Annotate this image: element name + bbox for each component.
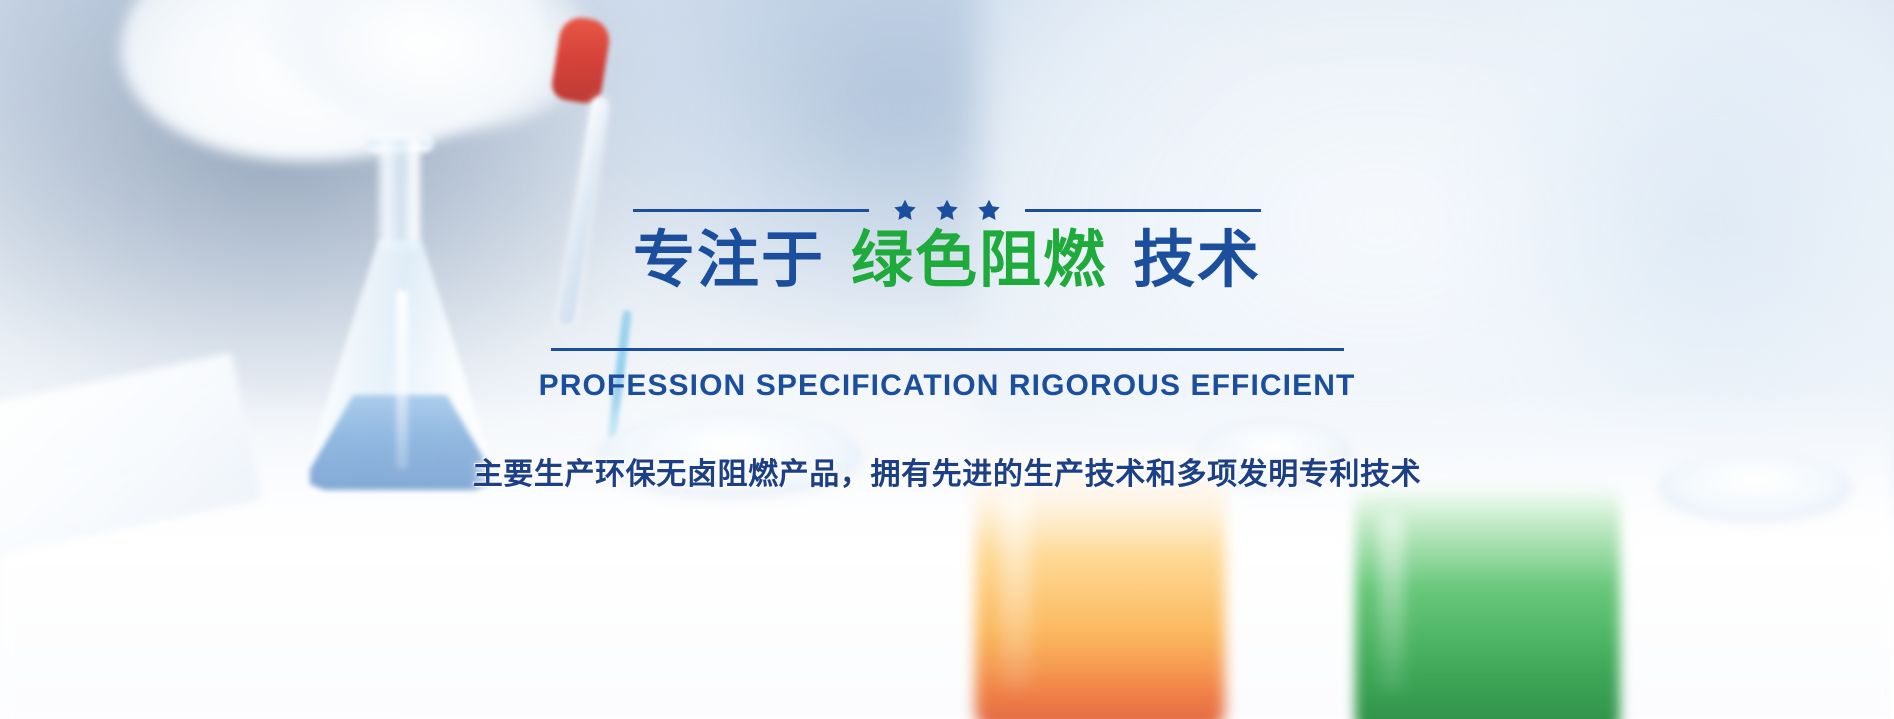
- decorative-rule-row: [633, 198, 1261, 222]
- hero-banner: 专注于绿色阻燃技术 PROFESSION SPECIFICATION RIGOR…: [0, 0, 1894, 719]
- tagline-chinese: 主要生产环保无卤阻燃产品，拥有先进的生产技术和多项发明专利技术: [473, 449, 1422, 493]
- divider-line-left: [633, 209, 869, 212]
- headline-part-2: 绿色阻燃: [851, 223, 1107, 296]
- page-title: 专注于绿色阻燃技术: [633, 228, 1261, 292]
- star-icon: [893, 199, 917, 222]
- headline-part-3: 技术: [1133, 223, 1261, 296]
- star-group: [869, 199, 1025, 222]
- subtitle-english: PROFESSION SPECIFICATION RIGOROUS EFFICI…: [539, 369, 1356, 403]
- divider-line-right: [1025, 209, 1261, 212]
- banner-content: 专注于绿色阻燃技术 PROFESSION SPECIFICATION RIGOR…: [0, 198, 1894, 493]
- star-icon: [977, 199, 1001, 222]
- headline-part-1: 专注于: [633, 223, 825, 296]
- star-icon: [935, 199, 959, 222]
- headline-underline: [551, 348, 1344, 351]
